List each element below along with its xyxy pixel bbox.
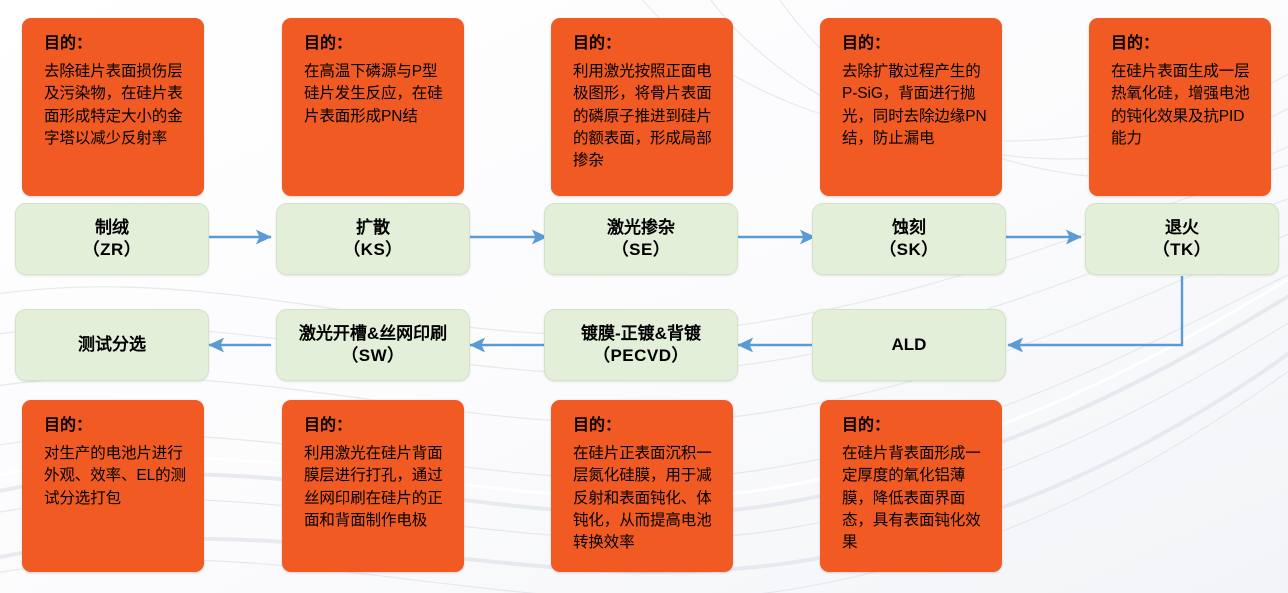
purpose-card-title: 目的：	[304, 34, 450, 54]
purpose-card-sk: 目的： 去除扩散过程产生的P-SiG，背面进行抛光，同时去除边缘PN结，防止漏电	[820, 18, 1002, 196]
process-step-code: （KS）	[343, 239, 403, 261]
purpose-card-body: 在硅片正表面沉积一层氮化硅膜，用于减反射和表面钝化、体钝化，从而提高电池转换效率	[573, 443, 719, 555]
process-step-sk[interactable]: 蚀刻 （SK）	[812, 203, 1006, 275]
process-step-code: （PECVD）	[593, 345, 689, 367]
process-step-test[interactable]: 测试分选	[15, 309, 209, 381]
process-step-tk[interactable]: 退火 （TK）	[1085, 203, 1279, 275]
purpose-card-title: 目的：	[842, 34, 988, 54]
process-step-name: 激光掺杂	[607, 217, 675, 239]
purpose-card-body: 利用激光按照正面电极图形，将骨片表面的磷原子推进到硅片的额表面，形成局部掺杂	[573, 61, 719, 173]
purpose-card-body: 在硅片背表面形成一定厚度的氧化铝薄膜，降低表面界面态，具有表面钝化效果	[842, 443, 988, 555]
process-step-ald[interactable]: ALD	[812, 309, 1006, 381]
purpose-card-ks: 目的： 在高温下磷源与P型硅片发生反应，在硅片表面形成PN结	[282, 18, 464, 196]
process-step-name: 扩散	[356, 217, 390, 239]
process-step-sw[interactable]: 激光开槽&丝网印刷 （SW）	[276, 309, 470, 381]
purpose-card-se: 目的： 利用激光按照正面电极图形，将骨片表面的磷原子推进到硅片的额表面，形成局部…	[551, 18, 733, 196]
process-step-name: 镀膜-正镀&背镀	[581, 323, 701, 345]
process-step-se[interactable]: 激光掺杂 （SE）	[544, 203, 738, 275]
purpose-card-pecvd: 目的： 在硅片正表面沉积一层氮化硅膜，用于减反射和表面钝化、体钝化，从而提高电池…	[551, 400, 733, 572]
process-step-ks[interactable]: 扩散 （KS）	[276, 203, 470, 275]
purpose-card-body: 在硅片表面生成一层热氧化硅，增强电池的钝化效果及抗PID能力	[1111, 61, 1257, 150]
purpose-card-zr: 目的： 去除硅片表面损伤层及污染物，在硅片表面形成特定大小的金字塔以减少反射率	[22, 18, 204, 196]
process-step-name: 测试分选	[78, 334, 146, 356]
purpose-card-body: 去除扩散过程产生的P-SiG，背面进行抛光，同时去除边缘PN结，防止漏电	[842, 61, 988, 150]
process-step-code: （SE）	[612, 239, 671, 261]
process-step-name: 退火	[1165, 217, 1199, 239]
purpose-card-body: 在高温下磷源与P型硅片发生反应，在硅片表面形成PN结	[304, 61, 450, 128]
purpose-card-test: 目的： 对生产的电池片进行外观、效率、EL的测试分选打包	[22, 400, 204, 572]
process-step-name: 制绒	[95, 217, 129, 239]
purpose-card-title: 目的：	[44, 34, 190, 54]
process-step-code: （SK）	[879, 239, 939, 261]
process-step-zr[interactable]: 制绒 （ZR）	[15, 203, 209, 275]
purpose-card-body: 对生产的电池片进行外观、效率、EL的测试分选打包	[44, 443, 190, 510]
purpose-card-tk: 目的： 在硅片表面生成一层热氧化硅，增强电池的钝化效果及抗PID能力	[1089, 18, 1271, 196]
purpose-card-ald: 目的： 在硅片背表面形成一定厚度的氧化铝薄膜，降低表面界面态，具有表面钝化效果	[820, 400, 1002, 572]
purpose-card-sw: 目的： 利用激光在硅片背面膜层进行打孔，通过丝网印刷在硅片的正面和背面制作电极	[282, 400, 464, 572]
purpose-card-title: 目的：	[842, 416, 988, 436]
purpose-card-title: 目的：	[573, 416, 719, 436]
process-flow-diagram: 目的： 去除硅片表面损伤层及污染物，在硅片表面形成特定大小的金字塔以减少反射率 …	[0, 0, 1288, 593]
process-step-code: （TK）	[1153, 239, 1212, 261]
purpose-card-title: 目的：	[1111, 34, 1257, 54]
process-step-code: （SW）	[341, 345, 404, 367]
process-step-code: （ZR）	[83, 239, 142, 261]
purpose-card-title: 目的：	[44, 416, 190, 436]
purpose-card-title: 目的：	[573, 34, 719, 54]
process-step-name: 蚀刻	[892, 217, 926, 239]
process-step-name: 激光开槽&丝网印刷	[299, 323, 447, 345]
process-step-pecvd[interactable]: 镀膜-正镀&背镀 （PECVD）	[544, 309, 738, 381]
purpose-card-body: 去除硅片表面损伤层及污染物，在硅片表面形成特定大小的金字塔以减少反射率	[44, 61, 190, 150]
process-step-name: ALD	[892, 334, 927, 356]
purpose-card-title: 目的：	[304, 416, 450, 436]
purpose-card-body: 利用激光在硅片背面膜层进行打孔，通过丝网印刷在硅片的正面和背面制作电极	[304, 443, 450, 532]
